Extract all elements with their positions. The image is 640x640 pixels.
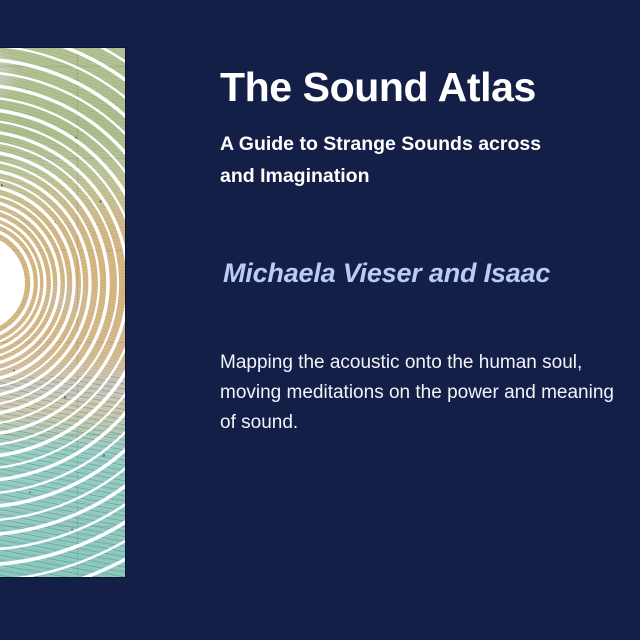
sound-ripple-arcs [0, 48, 125, 577]
book-info-column: The Sound Atlas A Guide to Strange Sound… [220, 0, 640, 640]
book-title: The Sound Atlas [220, 66, 640, 109]
book-authors: Michaela Vieser and Isaac [223, 258, 640, 289]
cover-map-image: ds I N D I [0, 47, 126, 578]
book-subtitle: A Guide to Strange Sounds across and Ima… [220, 129, 640, 192]
book-description: Mapping the acoustic onto the human soul… [220, 348, 632, 438]
book-cover-slide: ds I N D I The Sound Atlas A Guide to St… [0, 0, 640, 640]
